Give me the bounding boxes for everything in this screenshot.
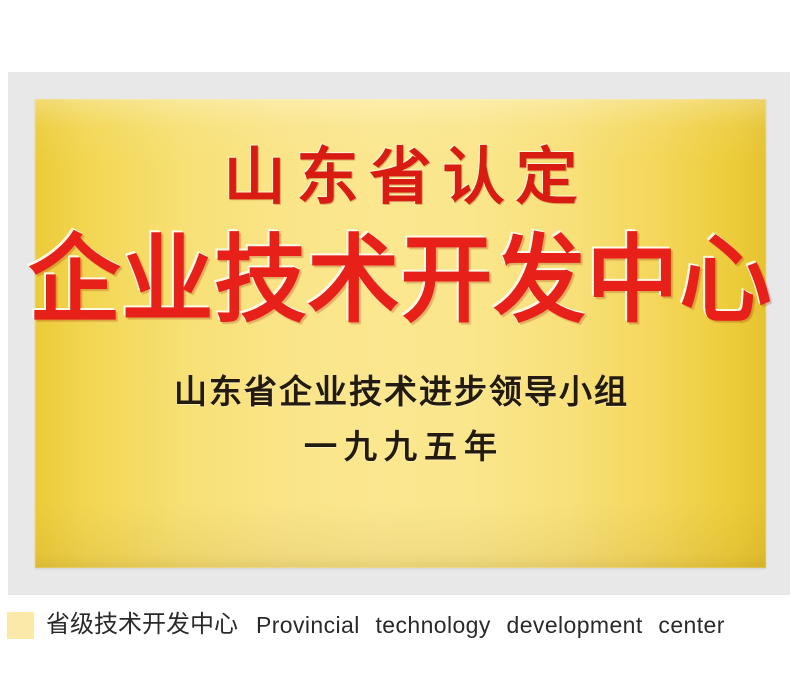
caption-row: 省级技术开发中心 Provincial technology developme… bbox=[0, 605, 800, 645]
plaque-frame: 山东省认定 企业技术开发中心 山东省企业技术进步领导小组 一九九五年 bbox=[8, 72, 790, 595]
page-root: 山东省认定 企业技术开发中心 山东省企业技术进步领导小组 一九九五年 省级技术开… bbox=[0, 0, 800, 697]
plaque-headline: 企业技术开发中心 bbox=[29, 233, 773, 329]
plaque-issuer: 山东省企业技术进步领导小组 bbox=[172, 377, 629, 410]
award-plaque: 山东省认定 企业技术开发中心 山东省企业技术进步领导小组 一九九五年 bbox=[35, 99, 766, 568]
plaque-title: 山东省认定 bbox=[212, 147, 588, 209]
caption-label-chinese: 省级技术开发中心 bbox=[46, 613, 238, 637]
plaque-year: 一九九五年 bbox=[297, 432, 504, 465]
plaque-content: 山东省认定 企业技术开发中心 山东省企业技术进步领导小组 一九九五年 bbox=[35, 99, 766, 568]
color-swatch-icon bbox=[7, 612, 34, 639]
caption-label-english: Provincial technology development center bbox=[256, 614, 725, 637]
